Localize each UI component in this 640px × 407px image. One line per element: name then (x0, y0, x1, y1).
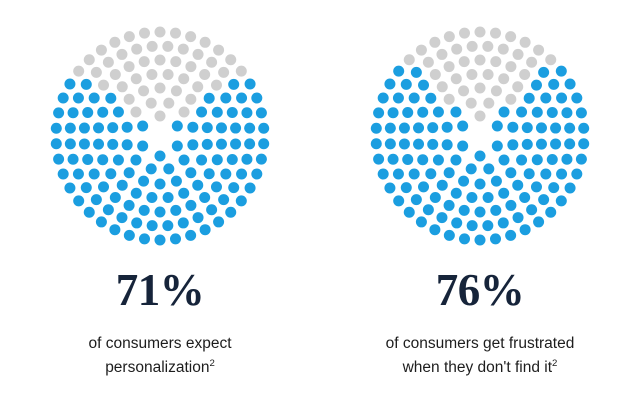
empty-dot (116, 49, 127, 60)
filled-dot (516, 155, 527, 166)
filled-dot (113, 107, 124, 118)
filled-dot (393, 169, 404, 180)
filled-dot (475, 179, 486, 190)
filled-dot (81, 182, 92, 193)
filled-dot (402, 107, 413, 118)
filled-dot (561, 107, 572, 118)
empty-dot (490, 28, 501, 39)
filled-dot (212, 107, 223, 118)
filled-dot (378, 169, 389, 180)
empty-dot (163, 69, 174, 80)
empty-dot (482, 41, 493, 52)
filled-dot (499, 155, 510, 166)
filled-dot (458, 176, 469, 187)
filled-dot (216, 139, 227, 150)
filled-dot (117, 180, 128, 191)
filled-dot (172, 121, 183, 132)
filled-dot (130, 155, 141, 166)
empty-dot (404, 54, 415, 65)
filled-dot (538, 194, 549, 205)
filled-dot (444, 200, 455, 211)
filled-dot (505, 200, 516, 211)
caption-line-2-text: personalization (105, 359, 209, 376)
filled-dot (192, 180, 203, 191)
filled-dot (113, 155, 124, 166)
empty-dot (178, 44, 189, 55)
filled-dot (131, 188, 142, 199)
filled-dot (185, 200, 196, 211)
filled-dot (491, 176, 502, 187)
filled-dot (196, 155, 207, 166)
filled-dot (241, 154, 252, 165)
filled-dot (547, 107, 558, 118)
empty-dot (225, 54, 236, 65)
filled-dot (545, 207, 556, 218)
empty-dot (124, 94, 135, 105)
filled-dot (413, 122, 424, 133)
filled-dot (548, 79, 559, 90)
empty-dot (437, 81, 448, 92)
filled-dot (413, 139, 424, 150)
filled-dot (532, 107, 543, 118)
filled-dot (122, 122, 133, 133)
filled-dot (245, 183, 256, 194)
filled-dot (155, 207, 166, 218)
empty-dot (444, 61, 455, 72)
empty-dot (155, 55, 166, 66)
filled-dot (556, 195, 567, 206)
empty-dot (103, 57, 114, 68)
filled-dot (73, 92, 84, 103)
filled-dot (245, 79, 256, 90)
filled-dot (531, 181, 542, 192)
empty-dot (185, 94, 196, 105)
filled-dot (53, 154, 64, 165)
empty-dot (193, 49, 204, 60)
filled-dot (138, 176, 149, 187)
filled-dot (385, 138, 396, 149)
filled-dot (236, 92, 247, 103)
filled-dot (105, 93, 116, 104)
empty-dot (451, 73, 462, 84)
filled-dot (51, 123, 62, 134)
filled-dot (79, 138, 90, 149)
filled-dot (540, 93, 551, 104)
filled-dot (457, 141, 468, 152)
filled-dot (73, 195, 84, 206)
empty-dot (483, 69, 494, 80)
filled-dot (178, 188, 189, 199)
filled-dot (185, 167, 196, 178)
filled-dot (378, 93, 389, 104)
percent-value: 76% (436, 268, 525, 313)
filled-dot (451, 188, 462, 199)
empty-dot (505, 94, 516, 105)
filled-dot (230, 123, 241, 134)
filled-dot (51, 138, 62, 149)
filled-dot (116, 212, 127, 223)
filled-dot (490, 233, 501, 244)
filled-dot (371, 138, 382, 149)
filled-dot (548, 182, 559, 193)
filled-dot (576, 154, 587, 165)
filled-dot (457, 121, 468, 132)
filled-dot (492, 141, 503, 152)
filled-dot (251, 93, 262, 104)
empty-dot (117, 81, 128, 92)
filled-dot (467, 220, 478, 231)
empty-dot (138, 85, 149, 96)
empty-dot (146, 98, 157, 109)
infographic-root: 71% of consumers expect personalization2… (0, 0, 640, 407)
filled-dot (531, 80, 542, 91)
filled-dot (373, 107, 384, 118)
filled-dot (163, 192, 174, 203)
filled-dot (179, 155, 190, 166)
empty-dot (91, 67, 102, 78)
filled-dot (124, 167, 135, 178)
filled-dot (556, 92, 567, 103)
empty-dot (429, 37, 440, 48)
filled-dot (466, 163, 477, 174)
empty-dot (436, 49, 447, 60)
filled-dot (519, 192, 530, 203)
filled-dot (202, 122, 213, 133)
filled-dot (565, 79, 576, 90)
filled-dot (256, 107, 267, 118)
filled-dot (162, 220, 173, 231)
filled-dot (244, 138, 255, 149)
filled-dot (155, 151, 166, 162)
stat-panel-personalization: 71% of consumers expect personalization2 (0, 0, 320, 407)
filled-dot (93, 139, 104, 150)
filled-dot (522, 122, 533, 133)
empty-dot (505, 61, 516, 72)
filled-dot (178, 217, 189, 228)
empty-dot (139, 56, 150, 67)
empty-dot (192, 81, 203, 92)
filled-dot (430, 192, 441, 203)
empty-dot (490, 56, 501, 67)
filled-dot (505, 167, 516, 178)
empty-dot (185, 61, 196, 72)
filled-dot (139, 205, 150, 216)
filled-dot (475, 151, 486, 162)
filled-dot (466, 192, 477, 203)
filled-dot (109, 224, 120, 235)
filled-dot (163, 163, 174, 174)
filled-dot (124, 200, 135, 211)
filled-dot (402, 154, 413, 165)
filled-dot (218, 194, 229, 205)
empty-dot (96, 45, 107, 56)
filled-dot (483, 192, 494, 203)
empty-dot (498, 73, 509, 84)
filled-dot (155, 179, 166, 190)
empty-dot (533, 45, 544, 56)
filled-dot (258, 138, 269, 149)
filled-dot (513, 212, 524, 223)
filled-dot (425, 168, 436, 179)
empty-dot (155, 83, 166, 94)
caption: of consumers expect personalization2 (88, 332, 231, 380)
empty-dot (444, 31, 455, 42)
filled-dot (93, 122, 104, 133)
filled-dot (507, 139, 518, 150)
filled-dot (498, 188, 509, 199)
filled-dot (564, 123, 575, 134)
filled-dot (187, 139, 198, 150)
filled-dot (64, 79, 75, 90)
filled-dot (512, 180, 523, 191)
filled-dot (404, 207, 415, 218)
filled-dot (418, 80, 429, 91)
stat-panel-frustration: 76% of consumers get frustrated when the… (320, 0, 640, 407)
filled-dot (427, 122, 438, 133)
filled-dot (399, 123, 410, 134)
empty-dot (131, 44, 142, 55)
filled-dot (516, 107, 527, 118)
filled-dot (139, 233, 150, 244)
filled-dot (393, 66, 404, 77)
filled-dot (64, 183, 75, 194)
filled-dot (68, 107, 79, 118)
filled-dot (107, 139, 118, 150)
filled-dot (228, 79, 239, 90)
filled-dot (451, 217, 462, 228)
empty-dot (84, 54, 95, 65)
empty-dot (218, 67, 229, 78)
filled-dot (65, 138, 76, 149)
filled-dot (442, 139, 453, 150)
filled-dot (423, 204, 434, 215)
filled-dot (536, 122, 547, 133)
filled-dot (388, 154, 399, 165)
empty-dot (185, 31, 196, 42)
filled-dot (65, 123, 76, 134)
filled-dot (155, 235, 166, 246)
caption-line-1: of consumers get frustrated (386, 332, 575, 356)
empty-dot (475, 111, 486, 122)
filled-dot (556, 169, 567, 180)
filled-dot (442, 122, 453, 133)
empty-dot (139, 28, 150, 39)
filled-dot (220, 169, 231, 180)
dot-chart-svg-1 (370, 26, 590, 246)
filled-dot (450, 155, 461, 166)
filled-dot (236, 195, 247, 206)
filled-dot (499, 106, 510, 117)
filled-dot (490, 205, 501, 216)
empty-dot (444, 94, 455, 105)
filled-dot (193, 212, 204, 223)
empty-dot (206, 57, 217, 68)
filled-dot (79, 123, 90, 134)
caption-line-2: personalization2 (88, 356, 231, 380)
filled-dot (475, 235, 486, 246)
empty-dot (179, 106, 190, 117)
filled-dot (475, 207, 486, 218)
filled-dot (98, 181, 109, 192)
filled-dot (425, 93, 436, 104)
filled-dot (571, 93, 582, 104)
empty-dot (155, 27, 166, 38)
empty-dot (147, 41, 158, 52)
filled-dot (433, 107, 444, 118)
filled-dot (550, 138, 561, 149)
filled-dot (416, 216, 427, 227)
filled-dot (256, 154, 267, 165)
filled-dot (122, 139, 133, 150)
empty-dot (505, 31, 516, 42)
empty-dot (131, 73, 142, 84)
caption-line-1: of consumers expect (88, 332, 231, 356)
filled-dot (401, 182, 412, 193)
filled-dot (228, 182, 239, 193)
filled-dot (505, 230, 516, 241)
filled-dot (409, 93, 420, 104)
filled-dot (571, 169, 582, 180)
filled-dot (213, 216, 224, 227)
filled-dot (244, 123, 255, 134)
dot-donut-chart-personalization (50, 26, 270, 246)
caption-line-2-text: when they don't find it (403, 359, 552, 376)
filled-dot (73, 169, 84, 180)
filled-dot (58, 93, 69, 104)
filled-dot (524, 168, 535, 179)
filled-dot (427, 139, 438, 150)
filled-dot (436, 212, 447, 223)
filled-dot (204, 93, 215, 104)
empty-dot (498, 44, 509, 55)
empty-dot (520, 37, 531, 48)
filled-dot (371, 123, 382, 134)
footnote-marker: 2 (552, 358, 557, 369)
empty-dot (459, 28, 470, 39)
filled-dot (82, 107, 93, 118)
filled-dot (200, 224, 211, 235)
empty-dot (451, 44, 462, 55)
empty-dot (171, 85, 182, 96)
filled-dot (110, 192, 121, 203)
filled-dot (417, 154, 428, 165)
filled-dot (540, 169, 551, 180)
empty-dot (483, 98, 494, 109)
filled-dot (91, 194, 102, 205)
filled-dot (216, 122, 227, 133)
filled-dot (220, 93, 231, 104)
dot-chart-svg-0 (50, 26, 270, 246)
filled-dot (433, 155, 444, 166)
filled-dot (58, 169, 69, 180)
filled-dot (578, 138, 589, 149)
filled-dot (202, 139, 213, 150)
filled-dot (258, 123, 269, 134)
filled-dot (561, 154, 572, 165)
filled-dot (388, 107, 399, 118)
filled-dot (507, 122, 518, 133)
empty-dot (162, 41, 173, 52)
caption: of consumers get frustrated when they do… (386, 332, 575, 380)
filled-dot (227, 154, 238, 165)
filled-dot (146, 192, 157, 203)
filled-dot (227, 107, 238, 118)
percent-value: 71% (116, 268, 205, 313)
filled-dot (520, 224, 531, 235)
empty-dot (178, 73, 189, 84)
filled-dot (53, 107, 64, 118)
filled-dot (206, 204, 217, 215)
empty-dot (416, 45, 427, 56)
empty-dot (170, 28, 181, 39)
empty-dot (109, 37, 120, 48)
filled-dot (483, 163, 494, 174)
filled-dot (437, 180, 448, 191)
filled-dot (385, 123, 396, 134)
filled-dot (147, 220, 158, 231)
empty-dot (430, 69, 441, 80)
filled-dot (550, 123, 561, 134)
dot-group-0 (51, 27, 269, 246)
empty-dot (110, 69, 121, 80)
filled-dot (482, 220, 493, 231)
empty-dot (163, 98, 174, 109)
filled-dot (393, 195, 404, 206)
filled-dot (204, 168, 215, 179)
filled-dot (187, 122, 198, 133)
filled-dot (411, 194, 422, 205)
filled-dot (89, 93, 100, 104)
filled-dot (124, 230, 135, 241)
filled-dot (96, 216, 107, 227)
filled-dot (450, 106, 461, 117)
filled-dot (225, 207, 236, 218)
filled-dot (251, 169, 262, 180)
filled-dot (564, 138, 575, 149)
empty-dot (466, 98, 477, 109)
filled-dot (185, 230, 196, 241)
filled-dot (131, 217, 142, 228)
dot-donut-chart-frustration (370, 26, 590, 246)
filled-dot (84, 207, 95, 218)
dot-group-1 (371, 27, 589, 246)
filled-dot (533, 216, 544, 227)
filled-dot (241, 107, 252, 118)
filled-dot (137, 121, 148, 132)
empty-dot (199, 69, 210, 80)
empty-dot (475, 83, 486, 94)
filled-dot (137, 141, 148, 152)
filled-dot (81, 79, 92, 90)
filled-dot (524, 93, 535, 104)
filled-dot (526, 204, 537, 215)
empty-dot (512, 81, 523, 92)
empty-dot (213, 45, 224, 56)
filled-dot (538, 67, 549, 78)
filled-dot (522, 139, 533, 150)
filled-dot (399, 138, 410, 149)
empty-dot (466, 69, 477, 80)
filled-dot (373, 154, 384, 165)
filled-dot (429, 224, 440, 235)
empty-dot (526, 57, 537, 68)
filled-dot (107, 122, 118, 133)
filled-dot (532, 154, 543, 165)
filled-dot (393, 92, 404, 103)
filled-dot (556, 66, 567, 77)
filled-dot (212, 154, 223, 165)
filled-dot (444, 230, 455, 241)
